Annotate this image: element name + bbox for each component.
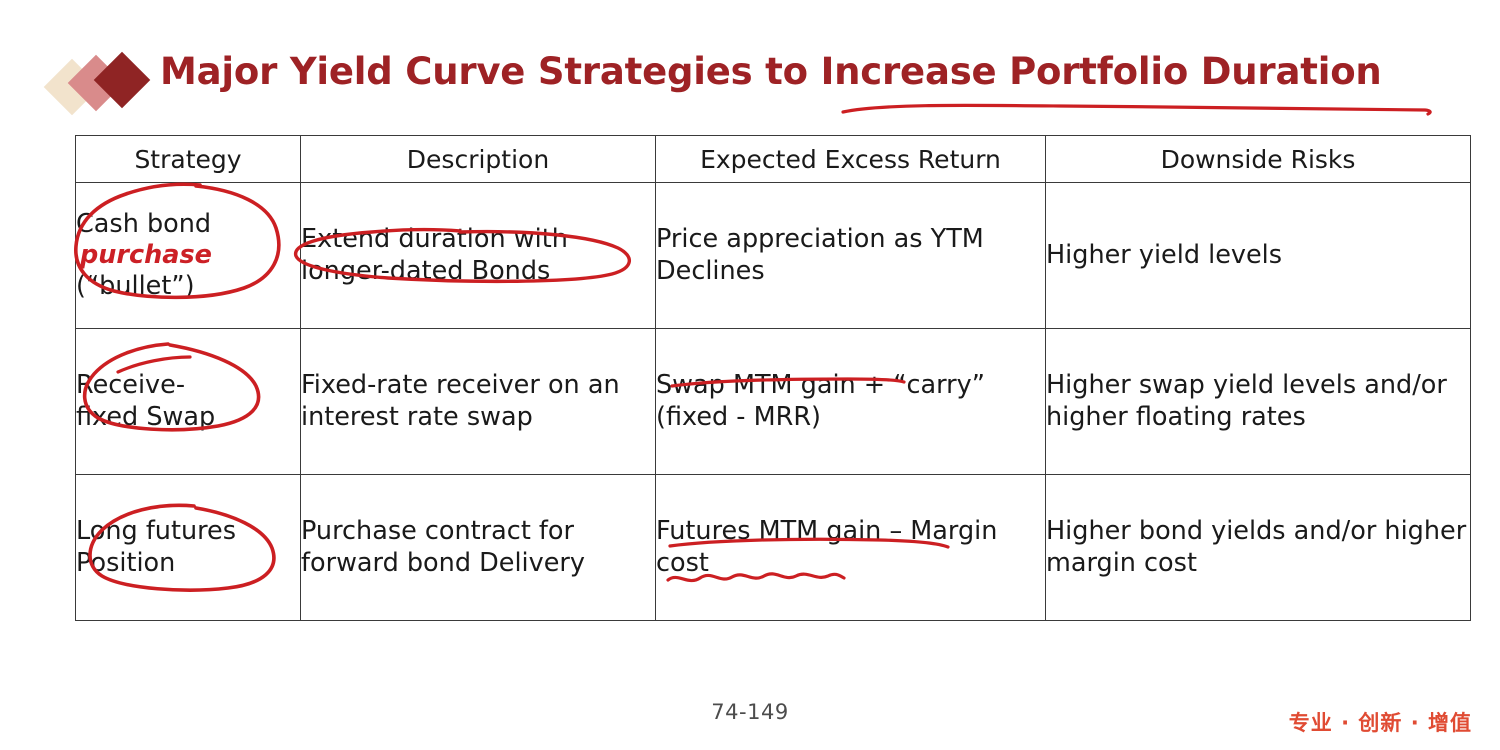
page-title-prefix: Major Yield Curve Strategies to — [160, 50, 821, 93]
strategy-line-1: Receive- — [76, 370, 300, 401]
strategy-line-3: Position — [76, 548, 300, 579]
cell-expected-return-row-3: Futures MTM gain – Margin cost — [656, 475, 1046, 621]
column-header-strategy: Strategy — [76, 136, 301, 183]
company-slogan: 专业 · 创新 · 增值 — [1289, 707, 1472, 737]
page-number: 74-149 — [0, 700, 1500, 724]
table-header-row: Strategy Description Expected Excess Ret… — [76, 136, 1471, 183]
column-header-description: Description — [301, 136, 656, 183]
table-row: Long futures Position Purchase contract … — [76, 475, 1471, 621]
strategy-line-1: Cash bond — [76, 209, 300, 240]
table-row: Receive- fixed Swap Fixed-rate receiver … — [76, 329, 1471, 475]
cell-expected-return-row-2: Swap MTM gain + “carry” (fixed - MRR) — [656, 329, 1046, 475]
cell-description-row-3: Purchase contract for forward bond Deliv… — [301, 475, 656, 621]
table-row: Cash bond purchase (“bullet”) Extend dur… — [76, 183, 1471, 329]
strategy-line-3: (“bullet”) — [76, 271, 300, 302]
title-bar: Major Yield Curve Strategies to Increase… — [0, 50, 1500, 120]
strategy-emphasis-purchase: purchase — [76, 240, 300, 271]
strategy-line-3: fixed Swap — [76, 402, 300, 433]
column-header-expected-excess-return: Expected Excess Return — [656, 136, 1046, 183]
cell-description-row-2: Fixed-rate receiver on an interest rate … — [301, 329, 656, 475]
page-title-emphasis: Increase Portfolio Duration — [821, 50, 1382, 93]
strategy-table: Strategy Description Expected Excess Ret… — [75, 135, 1471, 621]
page-title: Major Yield Curve Strategies to Increase… — [160, 50, 1382, 93]
cell-description-row-1: Extend duration with longer-dated Bonds — [301, 183, 656, 329]
logo-mark — [52, 58, 156, 116]
cell-strategy-long-futures-position: Long futures Position — [76, 475, 301, 621]
strategy-line-1: Long futures — [76, 516, 300, 547]
cell-strategy-cash-bond-purchase: Cash bond purchase (“bullet”) — [76, 183, 301, 329]
cell-downside-risks-row-3: Higher bond yields and/or higher margin … — [1046, 475, 1471, 621]
column-header-downside-risks: Downside Risks — [1046, 136, 1471, 183]
cell-expected-return-row-1: Price appreciation as YTM Declines — [656, 183, 1046, 329]
cell-downside-risks-row-2: Higher swap yield levels and/or higher f… — [1046, 329, 1471, 475]
cell-downside-risks-row-1: Higher yield levels — [1046, 183, 1471, 329]
cell-strategy-receive-fixed-swap: Receive- fixed Swap — [76, 329, 301, 475]
